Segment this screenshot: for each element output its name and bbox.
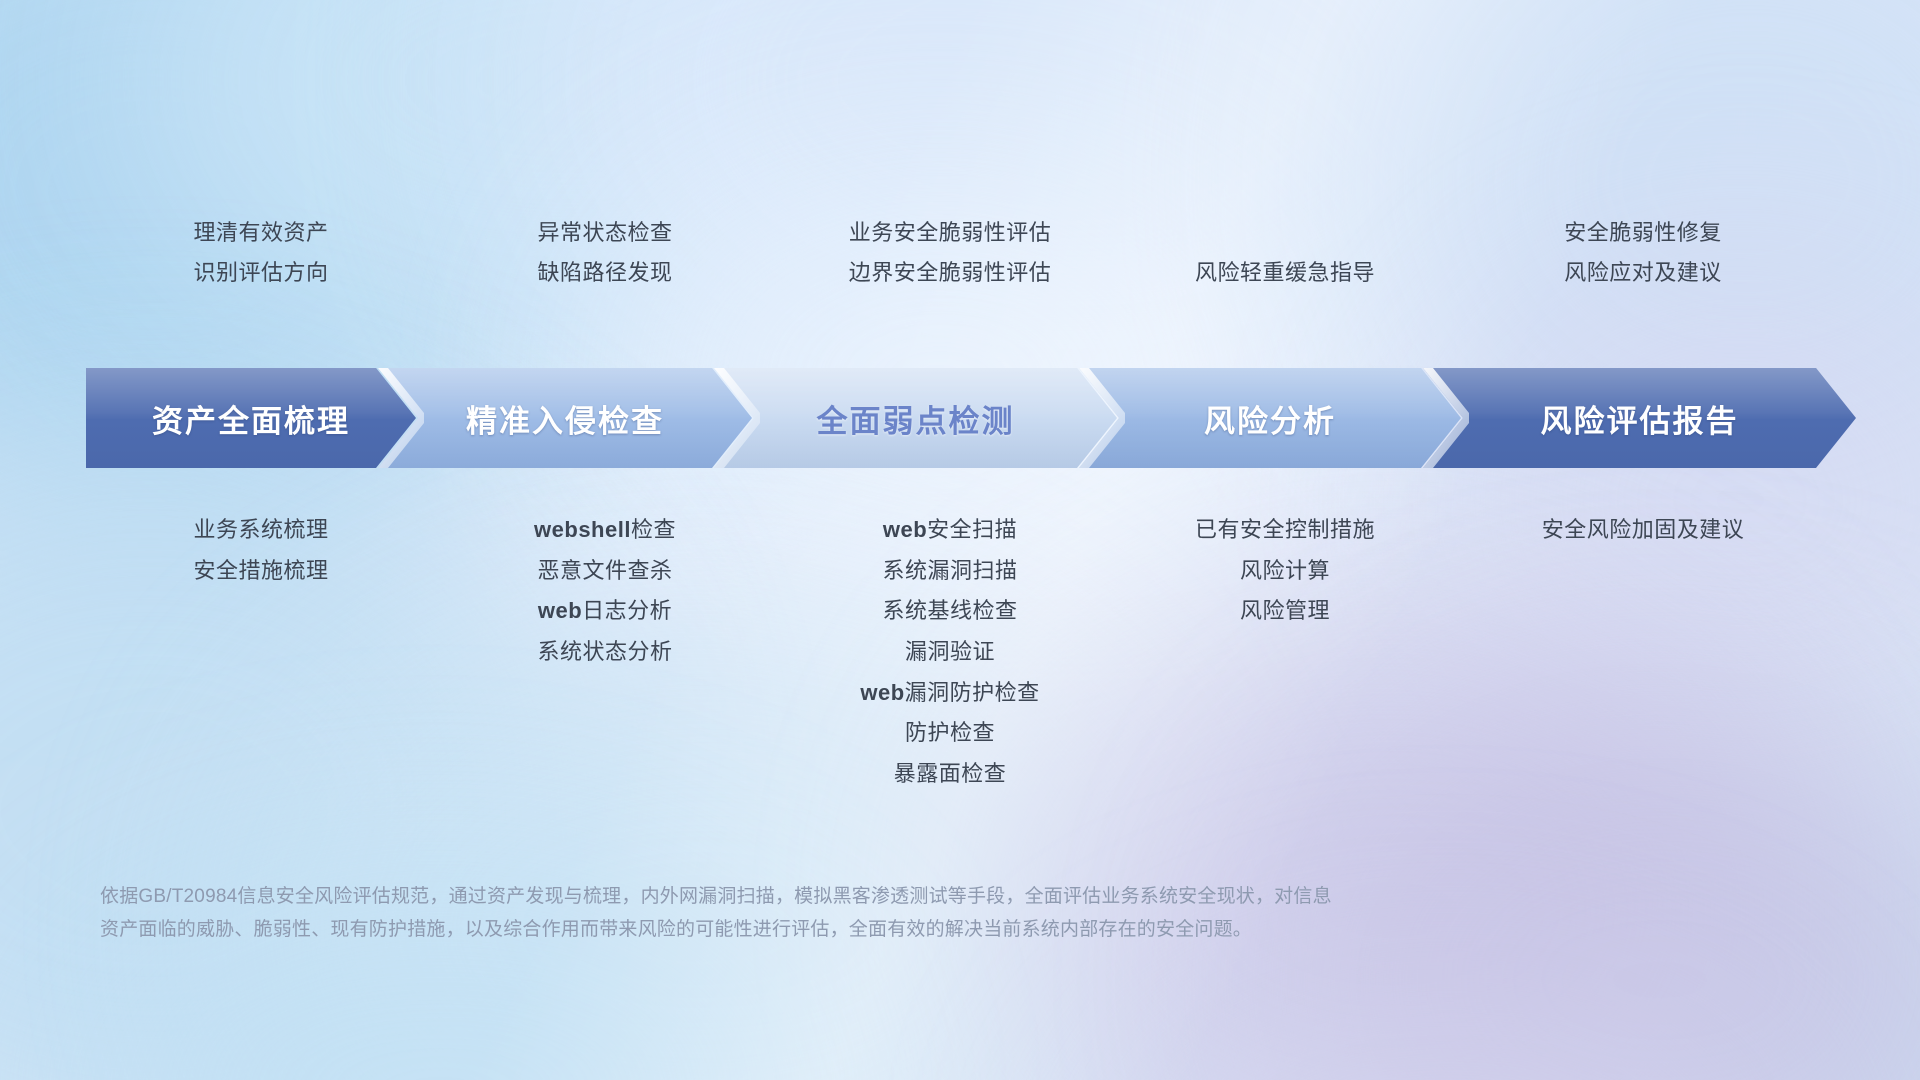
stage-bottom-items-3: web安全扫描系统漏洞扫描系统基线检查漏洞验证web漏洞防护检查防护检查暴露面检… <box>765 510 1135 795</box>
stage-item: web日志分析 <box>430 591 780 632</box>
stage-item: 暴露面检查 <box>765 754 1135 795</box>
stage-bottom-items-2: webshell检查恶意文件查杀web日志分析系统状态分析 <box>430 510 780 673</box>
stage-item: 风险计算 <box>1110 551 1460 592</box>
stage-label-2: 精准入侵检查 <box>466 396 664 441</box>
stage-item: 漏洞验证 <box>765 632 1135 673</box>
stage-item: 异常状态检查 <box>430 213 780 254</box>
stage-item: 防护检查 <box>765 713 1135 754</box>
stage-top-items-4: 风险轻重缓急指导 <box>1110 253 1460 294</box>
stage-item: webshell检查 <box>430 510 780 551</box>
process-diagram: 理清有效资产识别评估方向 异常状态检查缺陷路径发现 业务安全脆弱性评估边界安全脆… <box>0 0 1920 1080</box>
stage-item: 业务安全脆弱性评估 <box>765 213 1135 254</box>
stage-item: 风险管理 <box>1110 591 1460 632</box>
stage-item: 系统状态分析 <box>430 632 780 673</box>
stage-item: 理清有效资产 <box>86 213 436 254</box>
stage-item: 缺陷路径发现 <box>430 253 780 294</box>
stage-arrow-band: 资产全面梳理 精准入侵检查 全面弱点检测 风险分析 风险评估报告 <box>86 368 1856 468</box>
stage-item: 风险应对及建议 <box>1468 253 1818 294</box>
stage-item: 安全脆弱性修复 <box>1468 213 1818 254</box>
stage-label-1: 资产全面梳理 <box>152 396 350 441</box>
footer-description: 依据GB/T20984信息安全风险评估规范，通过资产发现与梳理，内外网漏洞扫描，… <box>100 880 1630 947</box>
stage-label-4: 风险分析 <box>1204 396 1336 441</box>
footer-line-1: 依据GB/T20984信息安全风险评估规范，通过资产发现与梳理，内外网漏洞扫描，… <box>100 880 1630 913</box>
stage-top-items-3: 业务安全脆弱性评估边界安全脆弱性评估 <box>765 213 1135 294</box>
stage-arrow-4[interactable]: 风险分析 <box>1079 368 1461 468</box>
stage-item: 已有安全控制措施 <box>1110 510 1460 551</box>
stage-arrow-1[interactable]: 资产全面梳理 <box>86 368 416 468</box>
footer-line-2: 资产面临的威胁、脆弱性、现有防护措施，以及综合作用而带来风险的可能性进行评估，全… <box>100 913 1630 946</box>
stage-arrow-5[interactable]: 风险评估报告 <box>1423 368 1856 468</box>
stage-item: 识别评估方向 <box>86 253 436 294</box>
stage-label-5: 风险评估报告 <box>1541 396 1739 441</box>
stage-item: 安全措施梳理 <box>86 551 436 592</box>
stage-label-3: 全面弱点检测 <box>817 396 1015 441</box>
stage-arrow-2[interactable]: 精准入侵检查 <box>378 368 752 468</box>
stage-item: 系统基线检查 <box>765 591 1135 632</box>
stage-item: web安全扫描 <box>765 510 1135 551</box>
stage-top-items-5: 安全脆弱性修复风险应对及建议 <box>1468 213 1818 294</box>
stage-arrow-3[interactable]: 全面弱点检测 <box>714 368 1117 468</box>
stage-item: web漏洞防护检查 <box>765 673 1135 714</box>
stage-item: 边界安全脆弱性评估 <box>765 253 1135 294</box>
stage-item: 系统漏洞扫描 <box>765 551 1135 592</box>
stage-top-items-2: 异常状态检查缺陷路径发现 <box>430 213 780 294</box>
stage-item: 恶意文件查杀 <box>430 551 780 592</box>
stage-item: 安全风险加固及建议 <box>1468 510 1818 551</box>
stage-item: 业务系统梳理 <box>86 510 436 551</box>
stage-bottom-items-5: 安全风险加固及建议 <box>1468 510 1818 551</box>
stage-top-items-1: 理清有效资产识别评估方向 <box>86 213 436 294</box>
stage-item: 风险轻重缓急指导 <box>1110 253 1460 294</box>
stage-bottom-items-1: 业务系统梳理安全措施梳理 <box>86 510 436 591</box>
stage-bottom-items-4: 已有安全控制措施风险计算风险管理 <box>1110 510 1460 632</box>
